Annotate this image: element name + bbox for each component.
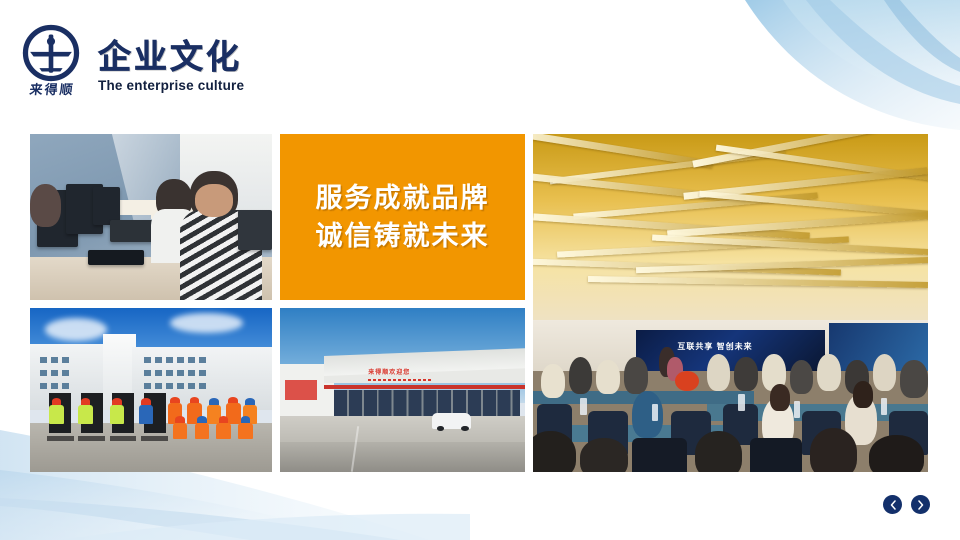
conference-hall-photo[interactable]: 互联共享 智创未来	[533, 134, 928, 472]
facility-sign-text: 来得顺欢迎您	[368, 370, 410, 377]
warehouse-team-photo[interactable]	[30, 308, 272, 472]
slide-pager	[883, 495, 930, 514]
distribution-center-photo[interactable]: 来得顺欢迎您	[280, 308, 525, 472]
slogan-line-2: 诚信铸就未来	[316, 217, 490, 255]
logo-wordmark: 来得顺	[21, 84, 82, 97]
stage-screen-text: 互联共享 智创未来	[677, 341, 752, 352]
company-logo[interactable]: 来得顺	[22, 24, 84, 110]
chevron-right-icon	[917, 500, 925, 510]
next-slide-button[interactable]	[911, 495, 930, 514]
page-title: 企业文化	[98, 40, 244, 75]
photo-gallery: 服务成就品牌 诚信铸就未来	[30, 134, 920, 472]
chevron-left-icon	[889, 500, 897, 510]
page-header: 来得顺 企业文化 The enterprise culture	[22, 24, 244, 110]
slogan-panel: 服务成就品牌 诚信铸就未来	[280, 134, 525, 300]
page-subtitle: The enterprise culture	[98, 79, 244, 93]
airplane-circle-emblem-icon	[22, 24, 80, 82]
previous-slide-button[interactable]	[883, 495, 902, 514]
slogan-line-1: 服务成就品牌	[316, 179, 490, 217]
page-title-block: 企业文化 The enterprise culture	[98, 24, 244, 92]
office-staff-photo[interactable]	[30, 134, 272, 300]
